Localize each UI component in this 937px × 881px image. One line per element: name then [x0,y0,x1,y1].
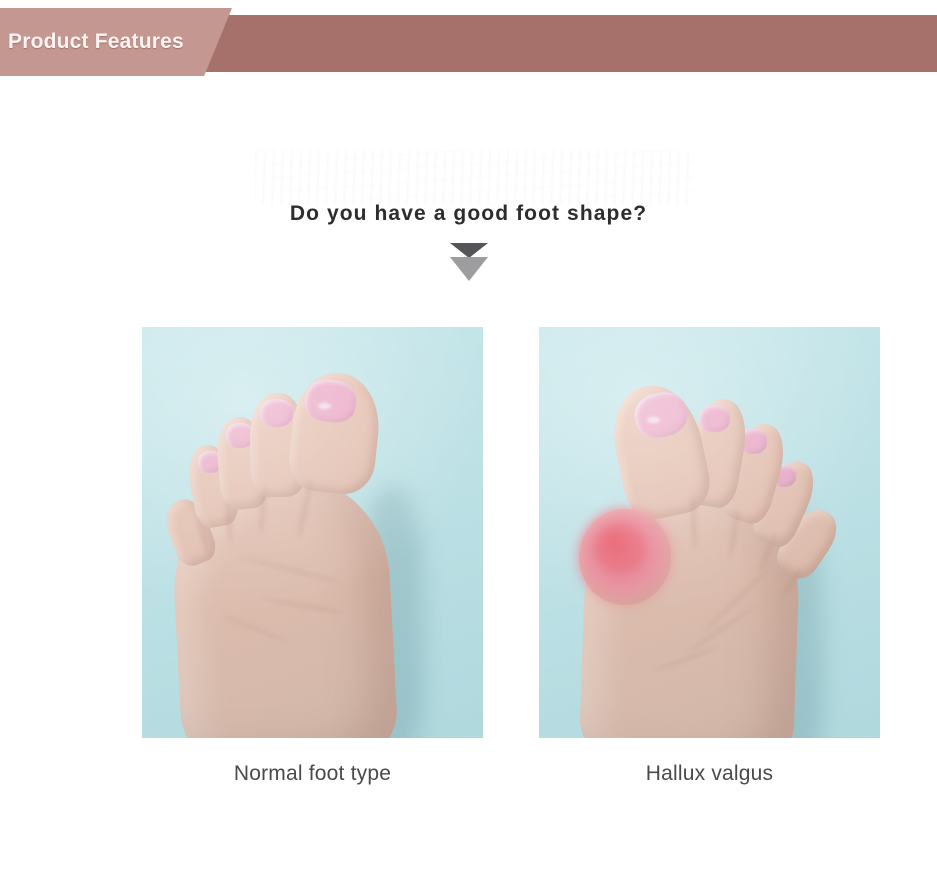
bunion-inflammation-core [595,525,643,569]
foot-comparison-row: Normal foot type [0,311,937,781]
hallux-valgus-foot-photo [539,327,880,738]
section-heading: Do you have a good foot shape? [0,202,937,226]
figure-hallux-valgus: Hallux valgus [539,327,880,786]
normal-foot-illustration [142,327,483,738]
page-header: Product Features [0,0,937,86]
normal-foot-photo [142,327,483,738]
toenail-second [260,399,293,427]
toenail-highlight [647,417,660,423]
figure-caption-hallux-valgus: Hallux valgus [539,762,880,786]
header-tab: Product Features [0,8,232,76]
figure-caption-normal-foot: Normal foot type [142,762,483,786]
chevron-down-icon-bottom [450,257,488,281]
background-watermark-texture [255,150,695,205]
double-chevron-down-icon [448,243,490,283]
toenail-highlight [318,403,331,409]
toenail-second [699,405,730,432]
hallux-valgus-foot-illustration [539,327,880,738]
header-tab-label: Product Features [8,30,184,54]
figure-normal-foot: Normal foot type [142,327,483,786]
chevron-down-icon-top [450,243,488,258]
